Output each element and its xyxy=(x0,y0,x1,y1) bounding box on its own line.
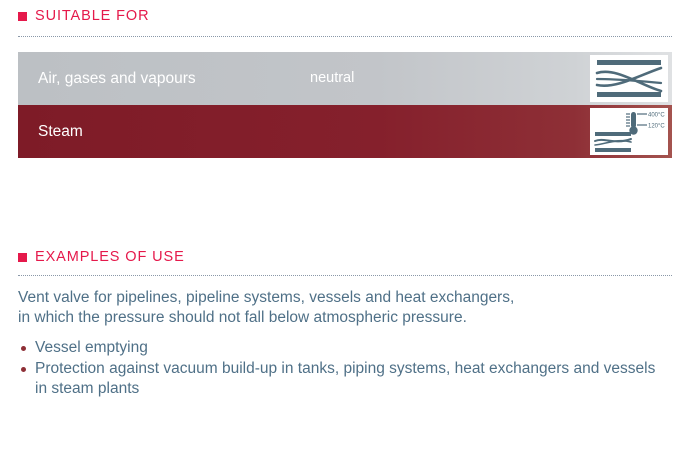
examples-paragraph: Vent valve for pipelines, pipeline syste… xyxy=(18,288,668,328)
thermometer-low-label: 120°C xyxy=(648,124,665,130)
paragraph-line: Vent valve for pipelines, pipeline syste… xyxy=(18,288,668,308)
suitable-for-heading: SUITABLE FOR xyxy=(18,9,149,24)
suitable-for-title: SUITABLE FOR xyxy=(35,9,149,24)
examples-of-use-heading: EXAMPLES OF USE xyxy=(18,250,185,265)
suitable-for-divider xyxy=(18,36,672,38)
table-row: Steam xyxy=(18,105,672,158)
suitable-media-table: Air, gases and vapours neutral Steam xyxy=(18,52,672,158)
list-item: Protection against vacuum build-up in ta… xyxy=(18,359,668,399)
examples-of-use-title: EXAMPLES OF USE xyxy=(35,250,185,265)
flow-crossing-lines-icon xyxy=(590,55,668,102)
media-name-label: Air, gases and vapours xyxy=(38,71,196,87)
media-property-label: neutral xyxy=(310,71,354,86)
table-row: Air, gases and vapours neutral xyxy=(18,52,672,105)
examples-of-use-divider xyxy=(18,275,672,277)
thermometer-high-label: 400°C xyxy=(648,113,665,119)
media-name-label: Steam xyxy=(38,124,83,140)
paragraph-line: in which the pressure should not fall be… xyxy=(18,308,668,328)
steam-thermometer-icon: 400°C 120°C xyxy=(590,108,668,155)
datasheet-page: SUITABLE FOR Air, gases and vapours neut… xyxy=(0,0,690,467)
list-item: Vessel emptying xyxy=(18,338,668,358)
heading-square-marker-icon xyxy=(18,12,27,21)
examples-bullet-list: Vessel emptying Protection against vacuu… xyxy=(18,338,668,400)
heading-square-marker-icon xyxy=(18,253,27,262)
